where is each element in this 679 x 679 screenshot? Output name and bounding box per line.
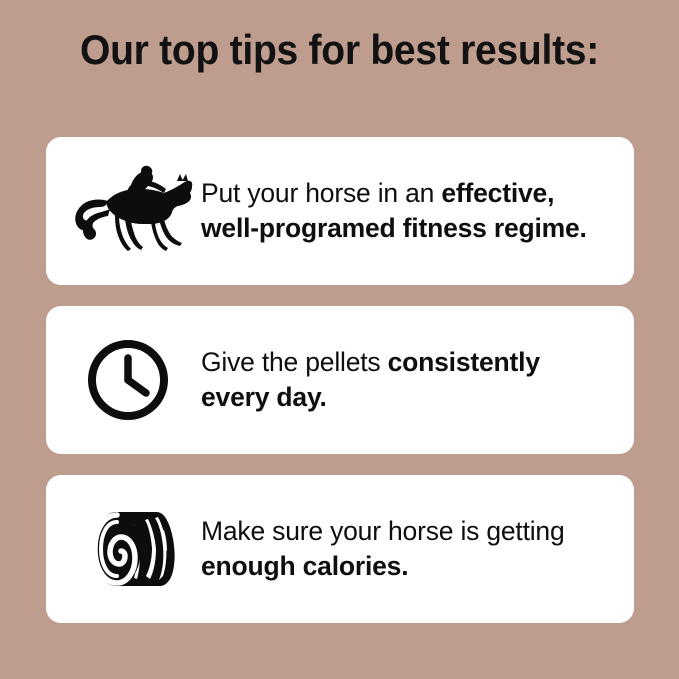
clock-icon: [46, 306, 201, 454]
tip-card-fitness-regime[interactable]: Put your horse in an effective, well-pro…: [46, 137, 634, 285]
tips-infographic: Our top tips for best results:: [0, 0, 679, 679]
page-title: Our top tips for best results:: [24, 27, 655, 73]
tip-card-calories[interactable]: Make sure your horse is getting enough c…: [46, 475, 634, 623]
tip-text-regular: Make sure your horse is getting: [201, 516, 565, 546]
tip-card-text: Give the pellets consistently every day.: [201, 345, 634, 415]
tip-card-text: Make sure your horse is getting enough c…: [201, 514, 634, 584]
tip-card-consistency[interactable]: Give the pellets consistently every day.: [46, 306, 634, 454]
tips-card-list: Put your horse in an effective, well-pro…: [46, 137, 634, 623]
tip-text-regular: Give the pellets: [201, 347, 388, 377]
tip-text-regular: Put your horse in an: [201, 178, 441, 208]
tip-card-text: Put your horse in an effective, well-pro…: [201, 176, 634, 246]
horse-and-rider-icon: [46, 137, 201, 285]
hay-bale-icon: [46, 475, 201, 623]
tip-text-bold: enough calories.: [201, 551, 408, 581]
